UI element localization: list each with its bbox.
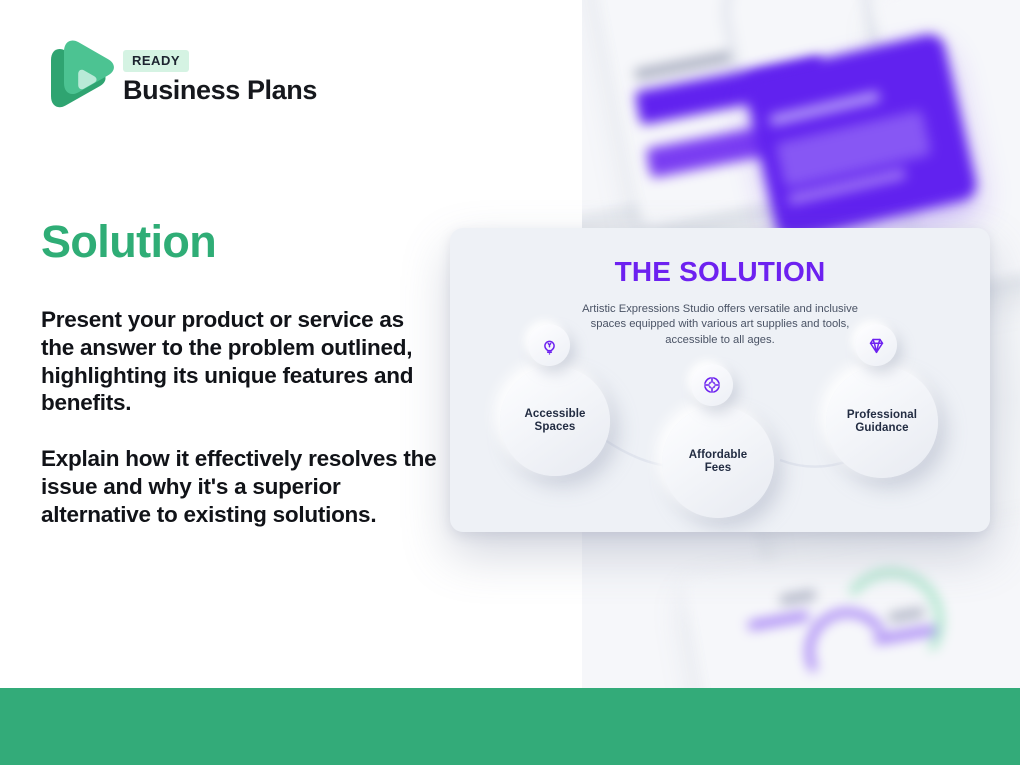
solution-preview-card[interactable]: THE SOLUTION Artistic Expressions Studio… [450,228,990,532]
node-label: Accessible Spaces [524,408,585,435]
node-accessible-spaces[interactable]: Accessible Spaces [500,366,610,476]
ready-badge: READY [123,50,189,72]
preview-title: THE SOLUTION [450,256,990,288]
lightbulb-icon [528,324,570,366]
footer-bar [0,688,1020,765]
brand-logo[interactable]: READY Business Plans [41,38,317,118]
preview-description: Artistic Expressions Studio offers versa… [570,302,870,348]
presentation-slide: THE SOLUTION Artistic Expressions Studio… [0,0,1020,765]
node-affordable-fees[interactable]: Affordable Fees [662,406,774,518]
diamond-icon [855,324,897,366]
node-label: Professional Guidance [847,409,917,436]
body-paragraph-2: Explain how it effectively resolves the … [41,445,441,528]
node-professional-guidance[interactable]: Professional Guidance [826,366,938,478]
page-title: Solution [41,216,216,268]
lifebuoy-icon [691,364,733,406]
node-label: Affordable Fees [689,449,748,476]
brand-name: Business Plans [123,75,317,106]
double-play-triangle-logo-icon [41,38,115,118]
body-paragraph-1: Present your product or service as the a… [41,306,441,417]
